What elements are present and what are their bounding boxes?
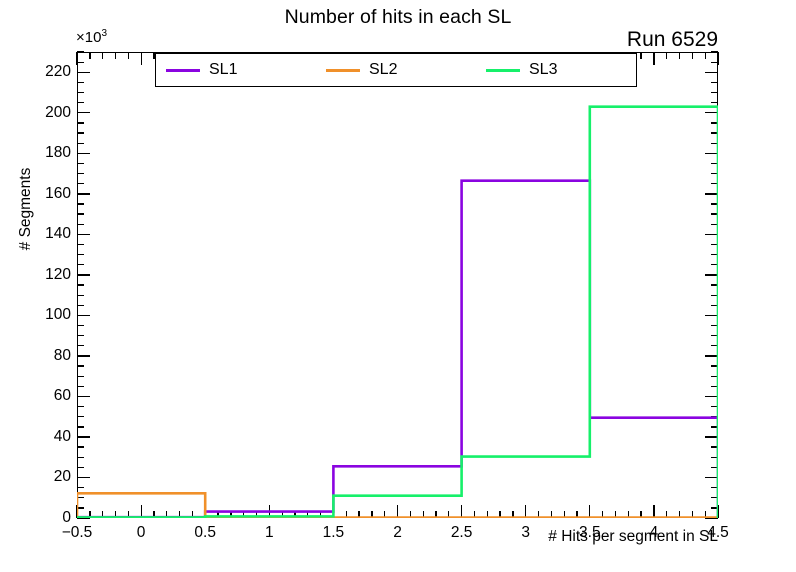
legend-label: SL3 <box>529 61 557 79</box>
x-tick-label: 4 <box>650 524 659 542</box>
x-tick-label: 3.5 <box>579 524 601 542</box>
legend-label: SL1 <box>209 61 237 79</box>
histogram-plot <box>77 52 718 518</box>
legend-entry-sl3[interactable]: SL3 <box>476 54 636 86</box>
x-tick-label: 2 <box>393 524 402 542</box>
legend-entry-sl1[interactable]: SL1 <box>156 54 316 86</box>
x-tick-label: 1 <box>265 524 274 542</box>
y-tick-label: 60 <box>54 387 71 405</box>
x-tick-label: −0.5 <box>62 524 93 542</box>
legend[interactable]: SL1SL2SL3 <box>155 53 637 87</box>
y-tick-label: 20 <box>54 468 71 486</box>
y-tick-label: 220 <box>45 63 71 81</box>
x-tick-label: 2.5 <box>451 524 473 542</box>
y-tick-label: 140 <box>45 225 71 243</box>
y-tick-label: 100 <box>45 306 71 324</box>
y-tick-label: 40 <box>54 428 71 446</box>
y-tick-label: 80 <box>54 347 71 365</box>
histogram-series-sl3 <box>77 107 718 518</box>
y-axis-labels: 020406080100120140160180200220 <box>0 52 71 518</box>
y-tick-label: 200 <box>45 104 71 122</box>
x-axis-labels: −0.500.511.522.533.544.5 <box>77 524 718 548</box>
x-tick-label: 0.5 <box>194 524 216 542</box>
x-tick-label: 1.5 <box>323 524 345 542</box>
y-tick-label: 120 <box>45 266 71 284</box>
histogram-series-sl1 <box>77 181 718 518</box>
legend-line-icon <box>166 69 200 72</box>
y-tick-label: 180 <box>45 144 71 162</box>
y-exponent-base: ×10 <box>76 29 101 46</box>
legend-line-icon <box>486 69 520 72</box>
root-canvas: Number of hits in each SL Run 6529 ×103 … <box>0 0 796 572</box>
legend-entry-sl2[interactable]: SL2 <box>316 54 476 86</box>
x-tick-label: 4.5 <box>707 524 729 542</box>
y-exponent-power: 3 <box>101 28 107 39</box>
y-tick-label: 160 <box>45 185 71 203</box>
run-label: Run 6529 <box>627 28 718 52</box>
page-title: Number of hits in each SL <box>0 6 796 29</box>
x-tick-label: 3 <box>521 524 530 542</box>
x-tick-label: 0 <box>137 524 146 542</box>
y-axis-exponent: ×103 <box>76 28 107 46</box>
legend-label: SL2 <box>369 61 397 79</box>
legend-line-icon <box>326 69 360 72</box>
